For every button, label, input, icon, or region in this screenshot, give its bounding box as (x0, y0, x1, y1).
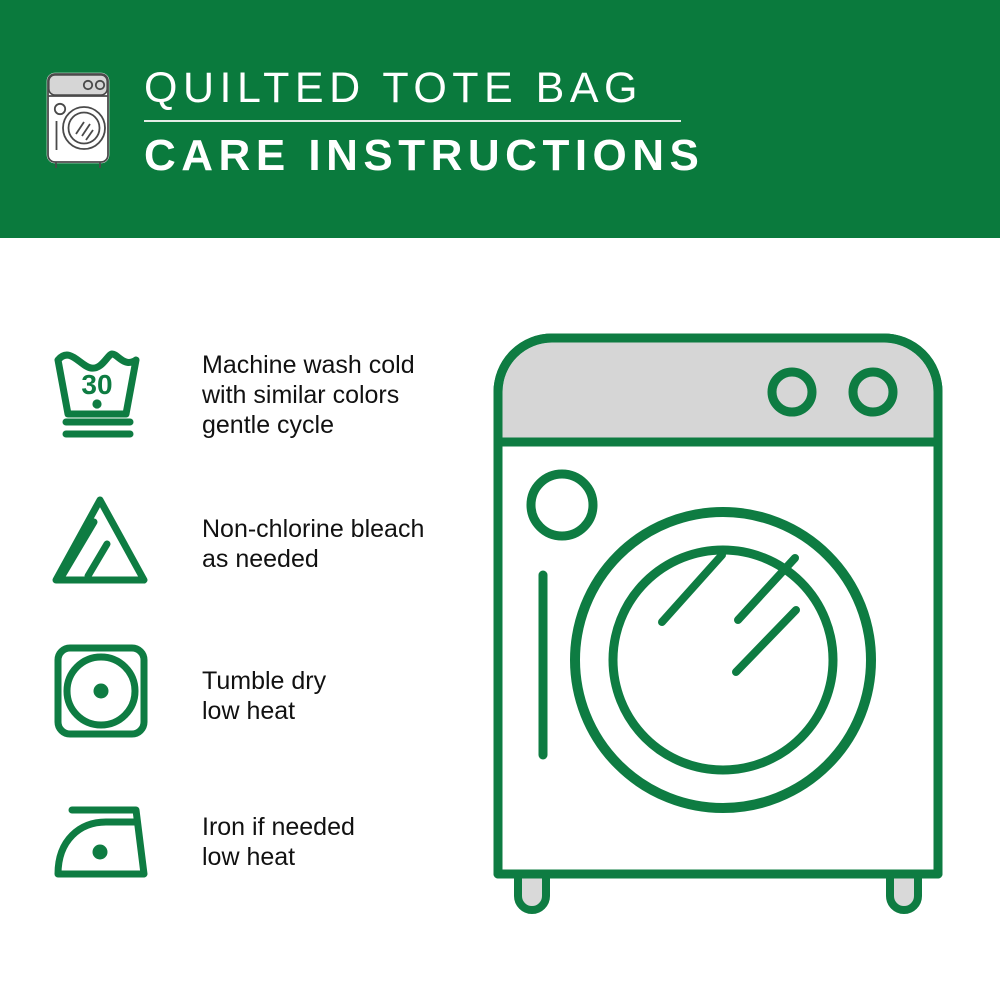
care-text-tumble-dry: Tumble dry low heat (202, 638, 326, 726)
page-title-primary: QUILTED TOTE BAG (144, 62, 704, 114)
iron-icon (50, 788, 162, 892)
care-text-line: gentle cycle (202, 410, 415, 440)
tumble-dry-icon (50, 638, 162, 742)
care-text-iron: Iron if needed low heat (202, 788, 355, 872)
header-content: QUILTED TOTE BAG CARE INSTRUCTIONS (44, 62, 704, 182)
wash-temp-value: 30 (81, 369, 112, 400)
care-instruction-list: 30 Machine wash cold with similar colors… (50, 338, 480, 938)
care-text-line: with similar colors (202, 380, 415, 410)
bleach-triangle-icon (50, 488, 162, 592)
care-text-line: Non-chlorine bleach (202, 514, 424, 544)
header-band: QUILTED TOTE BAG CARE INSTRUCTIONS (0, 0, 1000, 238)
wash-tub-icon: 30 (50, 338, 162, 442)
care-text-wash: Machine wash cold with similar colors ge… (202, 338, 415, 440)
care-row-wash: 30 Machine wash cold with similar colors… (50, 338, 480, 442)
care-text-bleach: Non-chlorine bleach as needed (202, 488, 424, 574)
care-text-line: low heat (202, 696, 326, 726)
header-title-block: QUILTED TOTE BAG CARE INSTRUCTIONS (144, 62, 704, 182)
care-text-line: Tumble dry (202, 666, 326, 696)
title-divider (144, 120, 681, 122)
care-text-line: low heat (202, 842, 355, 872)
washing-machine-icon (44, 68, 116, 172)
care-text-line: Iron if needed (202, 812, 355, 842)
care-row-bleach: Non-chlorine bleach as needed (50, 488, 480, 592)
care-instructions-infographic: QUILTED TOTE BAG CARE INSTRUCTIONS 30 Ma… (0, 0, 1000, 1000)
care-text-line: as needed (202, 544, 424, 574)
washing-machine-illustration (490, 330, 980, 930)
care-text-line: Machine wash cold (202, 350, 415, 380)
care-row-iron: Iron if needed low heat (50, 788, 480, 892)
page-title-secondary: CARE INSTRUCTIONS (144, 130, 704, 182)
care-row-tumble-dry: Tumble dry low heat (50, 638, 480, 742)
